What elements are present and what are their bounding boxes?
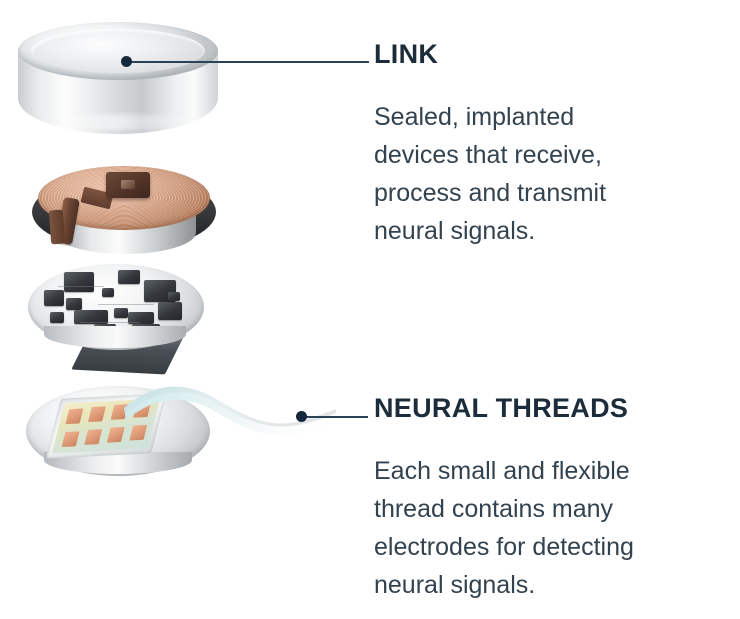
- callout-body-line: Sealed, implanted: [374, 98, 714, 136]
- implant-layer-sealed-case: [18, 22, 218, 162]
- electrode-pad: [88, 406, 106, 422]
- callout-body-link: Sealed, implanted devices that receive, …: [374, 98, 714, 250]
- callout-title-link: LINK: [374, 38, 714, 70]
- implant-layer-charging-coil: [32, 160, 216, 264]
- electrode-pad: [65, 408, 83, 424]
- pcb-chip: [66, 298, 82, 310]
- case-top-inset: [31, 29, 205, 73]
- electrode-pad: [62, 431, 80, 447]
- device-stack-illustration: [0, 0, 360, 619]
- pcb-chip: [114, 308, 128, 318]
- callout-neural-threads: NEURAL THREADS Each small and flexible t…: [374, 392, 714, 604]
- callout-body-line: neural signals.: [374, 212, 714, 250]
- callout-link: LINK Sealed, implanted devices that rece…: [374, 38, 714, 250]
- pcb-chip: [118, 270, 140, 284]
- callout-title-neural-threads: NEURAL THREADS: [374, 392, 714, 424]
- callout-body-line: Each small and flexible: [374, 452, 714, 490]
- ribbon-highlight: [124, 387, 336, 427]
- callout-body-line: thread contains many: [374, 490, 714, 528]
- implant-layer-circuit-board: [28, 264, 214, 368]
- pcb-trace: [58, 286, 104, 287]
- pcb-chip: [168, 292, 180, 301]
- callout-body-line: devices that receive,: [374, 136, 714, 174]
- pcb-chip: [158, 302, 182, 320]
- callout-body-line: process and transmit: [374, 174, 714, 212]
- case-top-face: [18, 22, 218, 80]
- implant-layer-electrode-base: [26, 378, 336, 488]
- coil-center-module: [106, 172, 150, 198]
- pcb-chip: [102, 288, 114, 297]
- diagram-canvas: LINK Sealed, implanted devices that rece…: [0, 0, 740, 619]
- coil-flex-strap-front: [49, 210, 65, 245]
- callout-body-line: neural signals.: [374, 566, 714, 604]
- pcb-chip: [64, 272, 94, 292]
- pcb-trace: [98, 304, 154, 305]
- pcb-chip: [44, 290, 64, 306]
- callout-body-neural-threads: Each small and flexible thread contains …: [374, 452, 714, 604]
- pcb-chip: [50, 312, 64, 323]
- electrode-pad: [84, 429, 102, 445]
- pcb-trace: [80, 322, 140, 323]
- neural-thread-ribbon: [122, 378, 338, 454]
- callout-body-line: electrodes for detecting: [374, 528, 714, 566]
